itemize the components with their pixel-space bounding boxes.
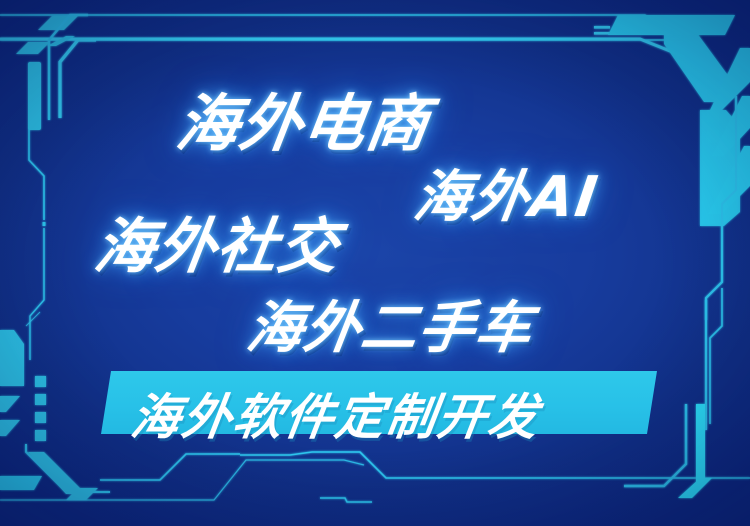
- headline-overseas-social: 海外社交: [90, 198, 346, 285]
- poster-canvas: 海外电商 海外AI 海外社交 海外二手车 海外软件定制开发: [0, 0, 750, 526]
- cta-banner-label: 海外软件定制开发: [127, 378, 545, 449]
- headline-overseas-ecommerce: 海外电商: [172, 73, 437, 163]
- headline-overseas-ai: 海外AI: [409, 152, 605, 233]
- headline-overseas-used-car: 海外二手车: [242, 283, 538, 364]
